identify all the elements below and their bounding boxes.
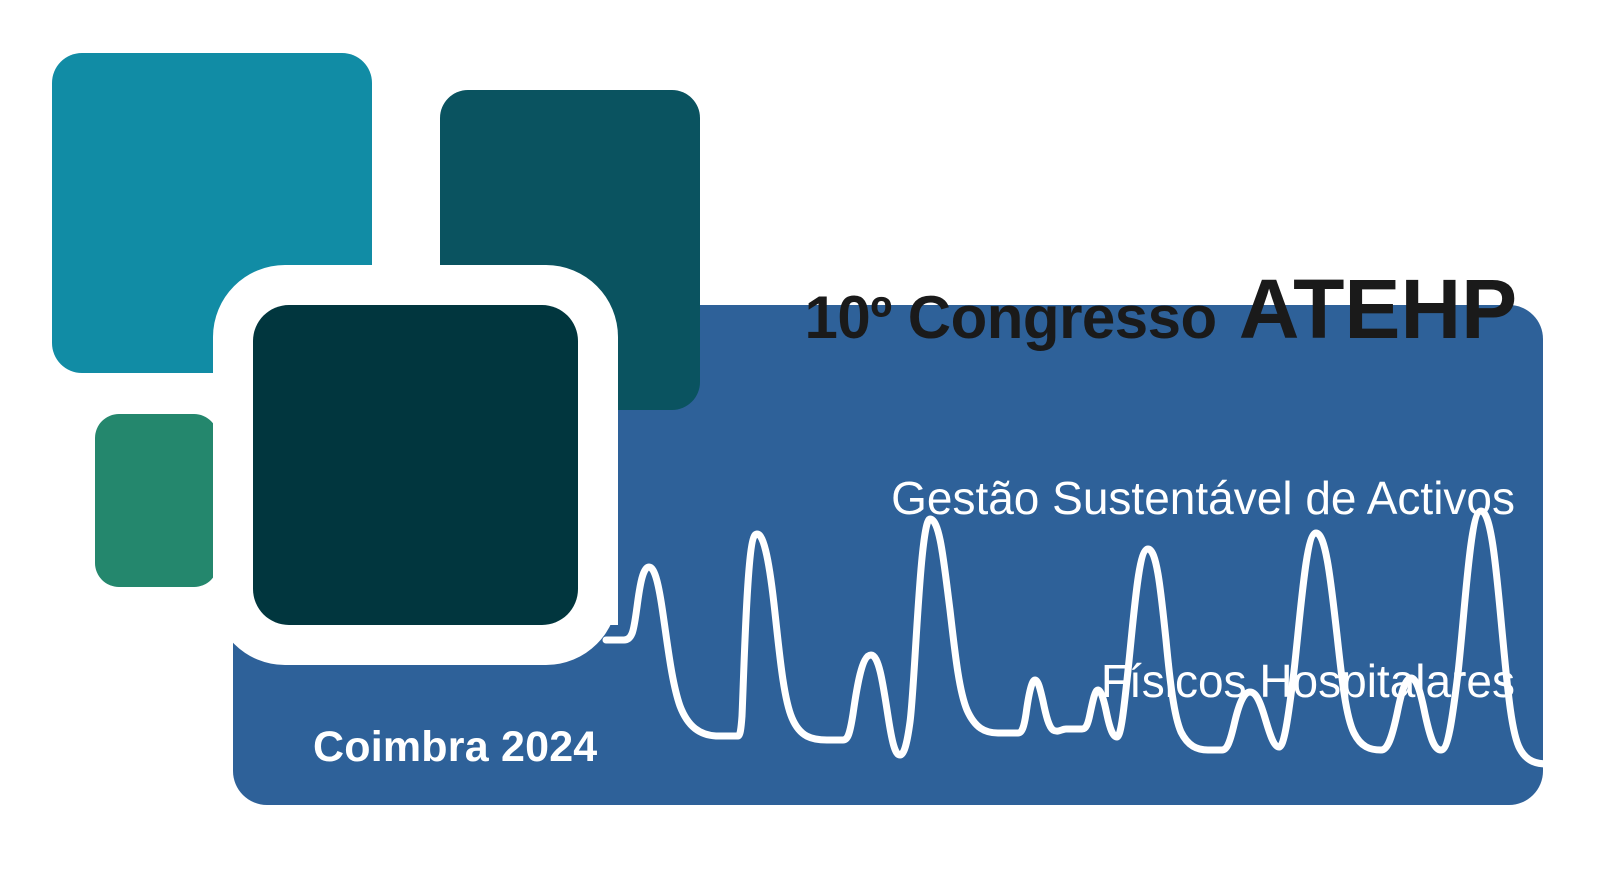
atehp-congress-logo: 10º CongressoATEHP Gestão Sustentável de… [0, 0, 1600, 893]
logo-graphic [0, 0, 1600, 893]
rounded-square-center-dark [253, 305, 578, 625]
rounded-square-green [95, 414, 218, 587]
